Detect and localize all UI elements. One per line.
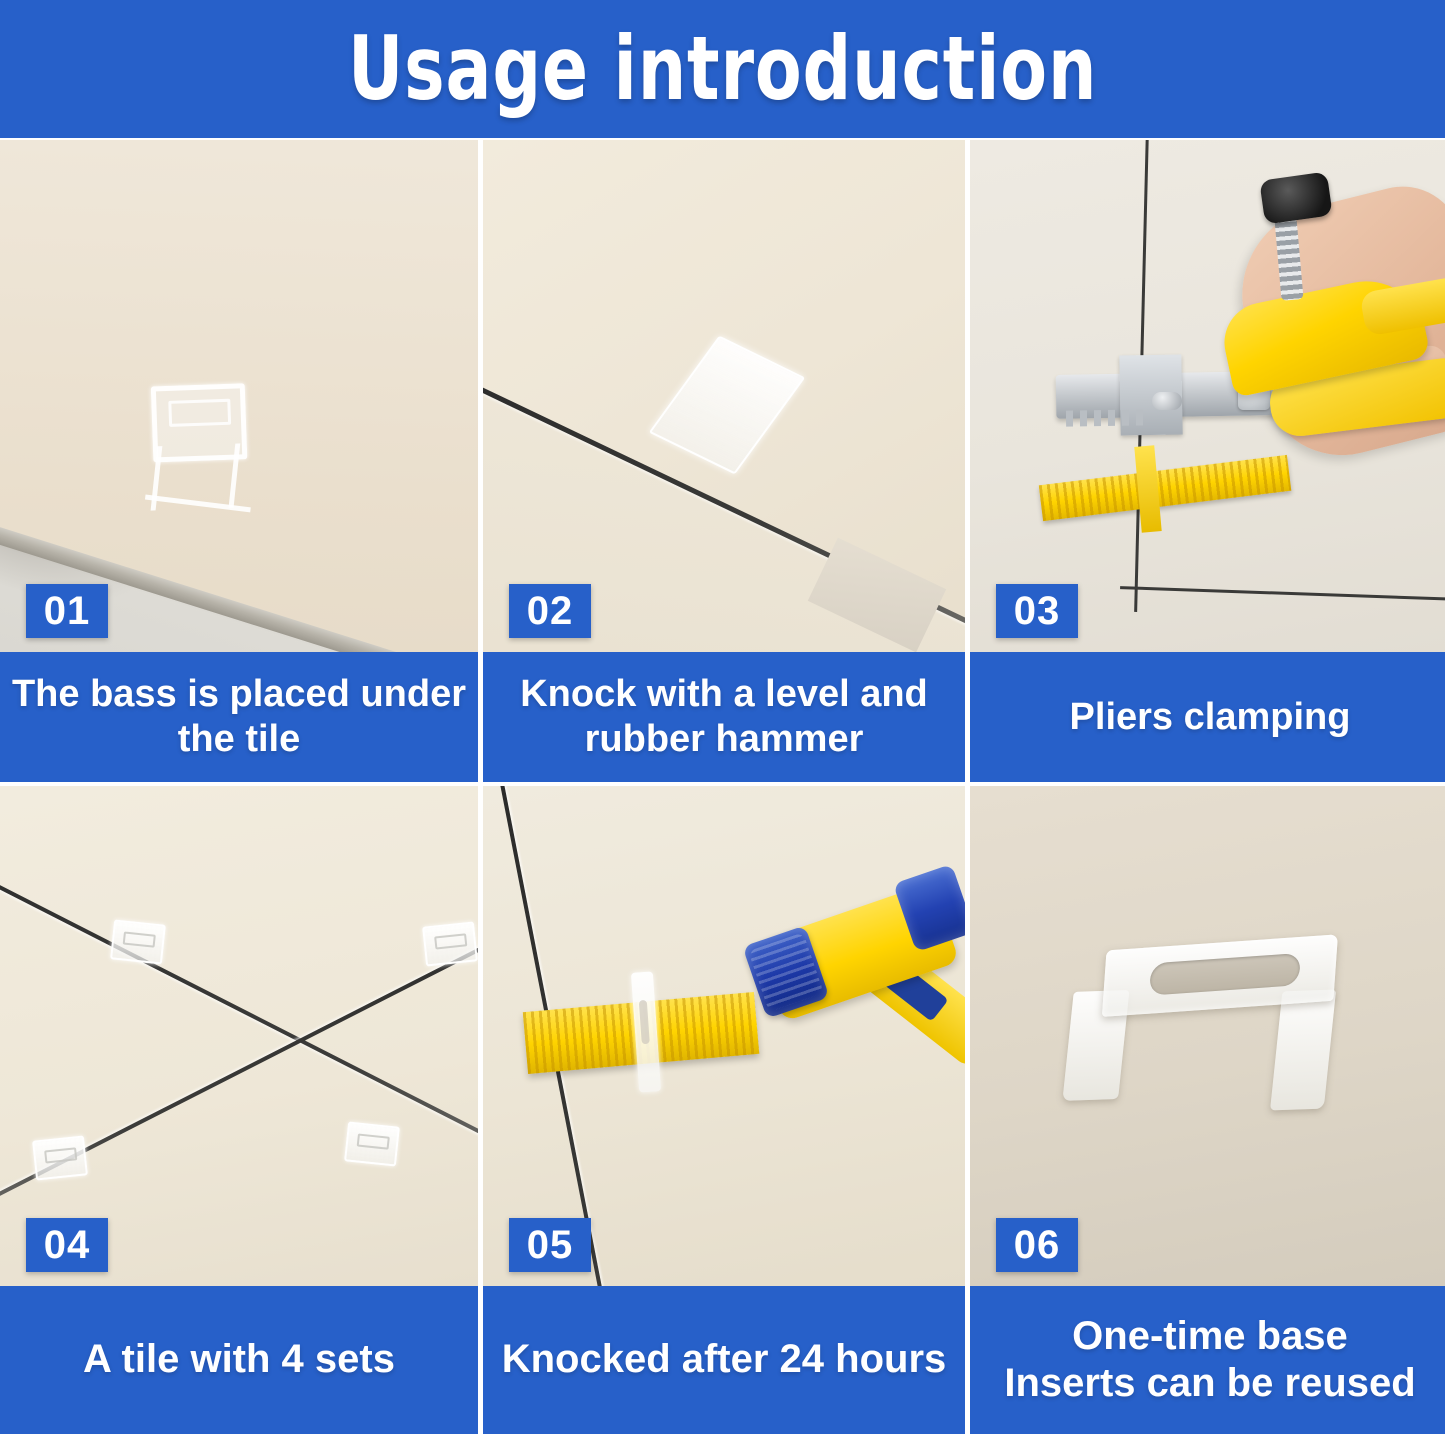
leveling-clip-icon bbox=[32, 1135, 88, 1180]
step-caption-06-line-2: Inserts can be reused bbox=[1004, 1361, 1415, 1405]
step-caption-04: A tile with 4 sets bbox=[0, 1286, 478, 1434]
step-photo-01: 01 bbox=[0, 140, 478, 652]
step-card-04: 04 A tile with 4 sets bbox=[0, 786, 478, 1434]
leveling-clip-icon bbox=[631, 971, 661, 1092]
pliers-teeth bbox=[1066, 409, 1144, 426]
usage-introduction-poster: Usage introduction 01 The bass is placed… bbox=[0, 0, 1445, 1438]
step-photo-04: 04 bbox=[0, 786, 478, 1286]
horizontal-grout-line bbox=[1120, 586, 1445, 601]
step-badge-03: 03 bbox=[996, 584, 1078, 638]
leveling-clip-icon bbox=[422, 921, 478, 966]
leveling-clip-icon bbox=[1054, 932, 1366, 1132]
step-card-02: 02 Knock with a level and rubber hammer bbox=[483, 140, 965, 782]
step-caption-01: The bass is placed under the tile bbox=[0, 652, 478, 782]
step-badge-05: 05 bbox=[509, 1218, 591, 1272]
leveling-clip-icon bbox=[145, 383, 245, 516]
step-card-05: 05 Knocked after 24 hours bbox=[483, 786, 965, 1434]
yellow-wedge-icon bbox=[1039, 455, 1292, 521]
step-caption-02: Knock with a level and rubber hammer bbox=[483, 652, 965, 782]
adjustment-knob-icon bbox=[1259, 171, 1332, 224]
step-card-03: 03 Pliers clamping bbox=[970, 140, 1445, 782]
step-badge-06: 06 bbox=[996, 1218, 1078, 1272]
step-photo-03: 03 bbox=[970, 140, 1445, 652]
step-caption-05: Knocked after 24 hours bbox=[483, 1286, 965, 1434]
steps-grid: 01 The bass is placed under the tile 02 … bbox=[0, 140, 1445, 1438]
leveling-clip-icon bbox=[344, 1121, 400, 1166]
step-caption-06-line-1: One-time base bbox=[1072, 1314, 1348, 1358]
step-badge-01: 01 bbox=[26, 584, 108, 638]
clip-tab-icon bbox=[649, 335, 806, 474]
pliers-pin bbox=[1152, 392, 1182, 410]
grout-line-diagonal-1 bbox=[0, 866, 478, 1152]
poster-header: Usage introduction bbox=[0, 0, 1445, 138]
step-badge-02: 02 bbox=[509, 584, 591, 638]
step-photo-05: 05 bbox=[483, 786, 965, 1286]
page-title: Usage introduction bbox=[348, 25, 1097, 113]
step-photo-06: 06 bbox=[970, 786, 1445, 1286]
step-badge-04: 04 bbox=[26, 1218, 108, 1272]
step-caption-03: Pliers clamping bbox=[970, 652, 1445, 782]
leveling-clip-icon bbox=[110, 919, 166, 964]
step-card-01: 01 The bass is placed under the tile bbox=[0, 140, 478, 782]
step-card-06: 06 One-time base Inserts can be reused bbox=[970, 786, 1445, 1434]
step-caption-06: One-time base Inserts can be reused bbox=[970, 1286, 1445, 1434]
step-photo-02: 02 bbox=[483, 140, 965, 652]
